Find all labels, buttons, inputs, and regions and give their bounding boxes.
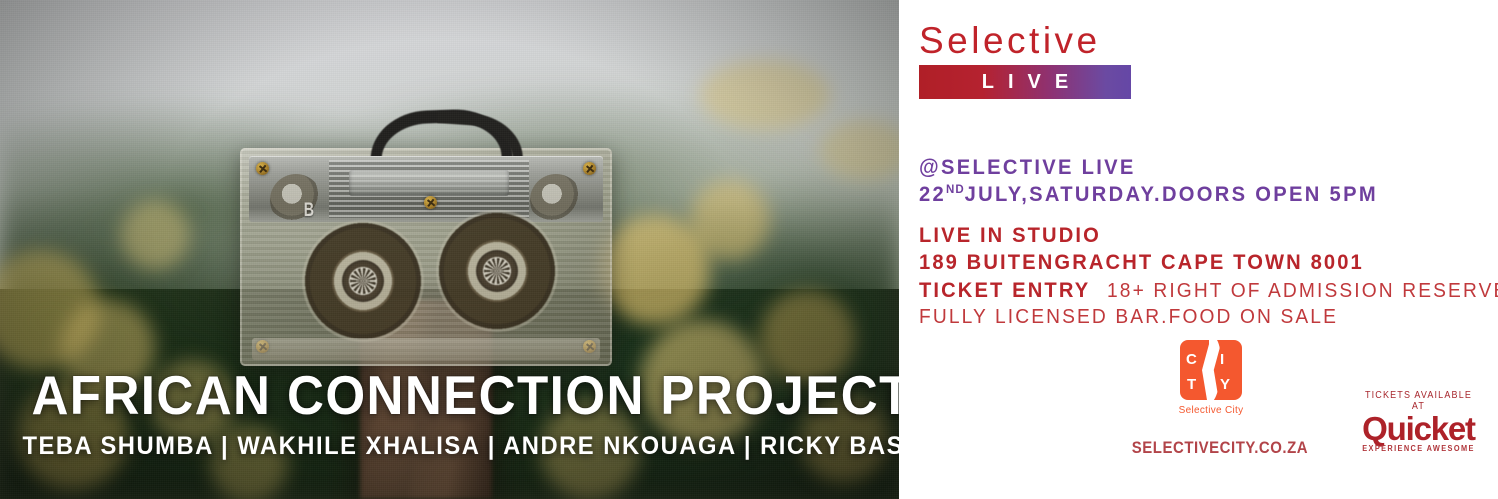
info-panel: Selective LIVE @SELECTIVE LIVE 22NDJULY,…	[899, 0, 1498, 499]
cassette-reel-right	[436, 210, 558, 332]
detail-line-entry: TICKET ENTRY 18+ RIGHT OF ADMISSION RESE…	[919, 277, 1498, 304]
event-date-day: 22	[919, 183, 946, 206]
event-venue-line: @SELECTIVE LIVE	[919, 155, 1378, 182]
detail-line-address: 189 BUITENGRACHT CAPE TOWN 8001	[919, 249, 1498, 276]
logo-letter-y: Y	[1220, 377, 1230, 392]
cassette-tape: B	[240, 148, 612, 366]
reel-teeth	[484, 258, 510, 284]
artist-lineup: TEBA SHUMBA | WAKHILE XHALISA | ANDRE NK…	[22, 432, 876, 461]
cassette-window	[349, 170, 509, 196]
bokeh-dot	[120, 200, 190, 270]
ticket-entry-label: TICKET ENTRY	[919, 277, 1090, 304]
cassette-spindle	[530, 174, 582, 226]
event-date-line: 22NDJULY,SATURDAY.DOORS OPEN 5PM	[919, 182, 1378, 209]
quicket-tagline-bottom: EXPERIENCE AWESOME	[1356, 444, 1480, 453]
reel-hub	[342, 260, 384, 302]
reel-hub	[476, 250, 518, 292]
screw-icon	[256, 162, 269, 175]
selective-city-logo-icon: C I T Y	[1180, 340, 1242, 400]
quicket-wordmark: Quicket	[1351, 412, 1486, 447]
selective-city-caption: Selective City	[1121, 405, 1301, 416]
event-date-ordinal: ND	[946, 182, 965, 196]
event-poster: B AFRICAN CONNECTION PROJECT TEBA SHUMBA…	[0, 0, 1498, 499]
detail-line-studio: LIVE IN STUDIO	[919, 222, 1498, 249]
screw-icon	[583, 162, 596, 175]
selective-live-logo: Selective LIVE	[919, 22, 1134, 99]
brand-live-bar: LIVE	[919, 65, 1131, 99]
poster-photo: B AFRICAN CONNECTION PROJECT TEBA SHUMBA…	[0, 0, 899, 499]
ticket-entry-note: 18+ RIGHT OF ADMISSION RESERVED.	[1107, 278, 1498, 304]
bokeh-dot	[690, 180, 770, 260]
event-date-rest: JULY,SATURDAY.DOORS OPEN 5PM	[965, 183, 1378, 206]
detail-line-bar: FULLY LICENSED BAR.FOOD ON SALE	[919, 304, 1498, 330]
cassette-bottom-edge	[252, 338, 600, 360]
logo-letter-t: T	[1187, 377, 1196, 392]
logo-letter-c: C	[1186, 352, 1197, 367]
quicket-tagline-top: TICKETS AVAILABLE AT	[1358, 390, 1480, 412]
cassette-side-label: B	[304, 200, 314, 222]
page-title: AFRICAN CONNECTION PROJECT	[31, 368, 867, 423]
reel-teeth	[350, 268, 376, 294]
brand-live-label: LIVE	[968, 71, 1082, 94]
headline-block: AFRICAN CONNECTION PROJECT TEBA SHUMBA |…	[0, 368, 899, 461]
quicket-block[interactable]: TICKETS AVAILABLE AT Quicket EXPERIENCE …	[1351, 390, 1486, 453]
selective-city-url[interactable]: SELECTIVECITY.CO.ZA	[1132, 438, 1290, 458]
bokeh-dot	[700, 60, 830, 130]
logo-letter-i: I	[1220, 352, 1224, 367]
selective-city-block[interactable]: C I T Y Selective City SELECTIVECITY.CO.…	[1121, 340, 1301, 458]
screw-icon	[424, 196, 437, 209]
brand-wordmark: Selective	[919, 22, 1134, 59]
cassette-reel-left	[302, 220, 424, 342]
event-details-block: LIVE IN STUDIO 189 BUITENGRACHT CAPE TOW…	[919, 222, 1498, 330]
event-when-block: @SELECTIVE LIVE 22NDJULY,SATURDAY.DOORS …	[919, 155, 1397, 209]
